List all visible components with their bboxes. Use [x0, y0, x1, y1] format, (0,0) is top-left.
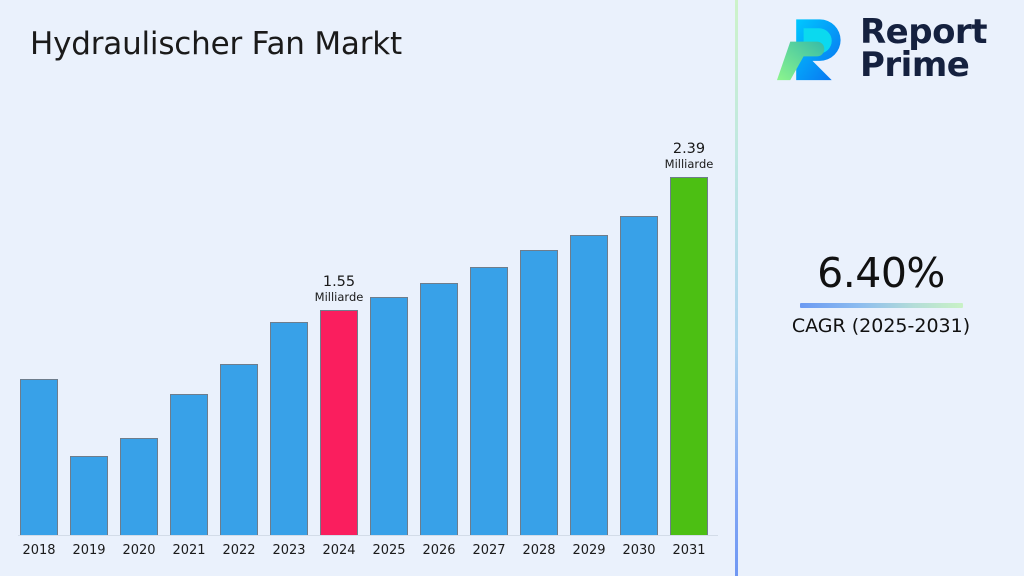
- bar-group-2021[interactable]: 2021: [168, 0, 218, 576]
- bar-group-2020[interactable]: 2020: [118, 0, 168, 576]
- bar-value-label-2031: 2.39Milliarde: [646, 141, 732, 171]
- brand-line-2: Prime: [860, 49, 987, 82]
- x-tick-2023: 2023: [268, 543, 310, 558]
- side-panel: Report Prime 6.40% CAGR (2025-2031): [738, 0, 1024, 576]
- x-tick-2021: 2021: [168, 543, 210, 558]
- x-tick-2025: 2025: [368, 543, 410, 558]
- bar-series: 2018201920202021202220231.55Milliarde202…: [0, 0, 736, 576]
- bar-2026[interactable]: [420, 283, 458, 535]
- brand-wordmark: Report Prime: [860, 16, 987, 82]
- bar-group-2030[interactable]: 2030: [618, 0, 668, 576]
- x-tick-2026: 2026: [418, 543, 460, 558]
- x-tick-2028: 2028: [518, 543, 560, 558]
- x-tick-2027: 2027: [468, 543, 510, 558]
- chart-plot-area: 2018201920202021202220231.55Milliarde202…: [0, 0, 736, 576]
- bar-value-number-2031: 2.39: [646, 141, 732, 158]
- bar-value-unit-2031: Milliarde: [646, 158, 732, 171]
- cagr-block: 6.40% CAGR (2025-2031): [738, 252, 1024, 337]
- bar-2030[interactable]: [620, 216, 658, 535]
- chart-page: Hydraulischer Fan Markt 2018201920202021…: [0, 0, 1024, 576]
- bar-2027[interactable]: [470, 267, 508, 535]
- x-tick-2018: 2018: [18, 543, 60, 558]
- bar-2021[interactable]: [170, 394, 208, 535]
- bar-group-2018[interactable]: 2018: [18, 0, 68, 576]
- bar-group-2026[interactable]: 2026: [418, 0, 468, 576]
- x-tick-2029: 2029: [568, 543, 610, 558]
- bar-group-2031[interactable]: 2.39Milliarde2031: [668, 0, 718, 576]
- bar-2023[interactable]: [270, 322, 308, 535]
- bar-group-2028[interactable]: 2028: [518, 0, 568, 576]
- bar-2019[interactable]: [70, 456, 108, 535]
- bar-group-2019[interactable]: 2019: [68, 0, 118, 576]
- bar-2020[interactable]: [120, 438, 158, 535]
- brand-logo: Report Prime: [774, 12, 987, 86]
- bar-2022[interactable]: [220, 364, 258, 535]
- x-tick-2031: 2031: [668, 543, 710, 558]
- bar-group-2029[interactable]: 2029: [568, 0, 618, 576]
- x-tick-2019: 2019: [68, 543, 110, 558]
- report-prime-logo-icon: [774, 12, 848, 86]
- bar-2018[interactable]: [20, 379, 58, 535]
- x-tick-2022: 2022: [218, 543, 260, 558]
- bar-2029[interactable]: [570, 235, 608, 535]
- bar-group-2025[interactable]: 2025: [368, 0, 418, 576]
- x-tick-2030: 2030: [618, 543, 660, 558]
- bar-2028[interactable]: [520, 250, 558, 535]
- bar-2025[interactable]: [370, 297, 408, 535]
- bar-group-2027[interactable]: 2027: [468, 0, 518, 576]
- bar-2031[interactable]: [670, 177, 708, 535]
- cagr-label: CAGR (2025-2031): [738, 315, 1024, 337]
- cagr-divider: [800, 303, 963, 308]
- cagr-value: 6.40%: [738, 252, 1024, 295]
- bar-group-2024[interactable]: 1.55Milliarde2024: [318, 0, 368, 576]
- bar-2024[interactable]: [320, 310, 358, 535]
- bar-group-2022[interactable]: 2022: [218, 0, 268, 576]
- x-tick-2024: 2024: [318, 543, 360, 558]
- x-tick-2020: 2020: [118, 543, 160, 558]
